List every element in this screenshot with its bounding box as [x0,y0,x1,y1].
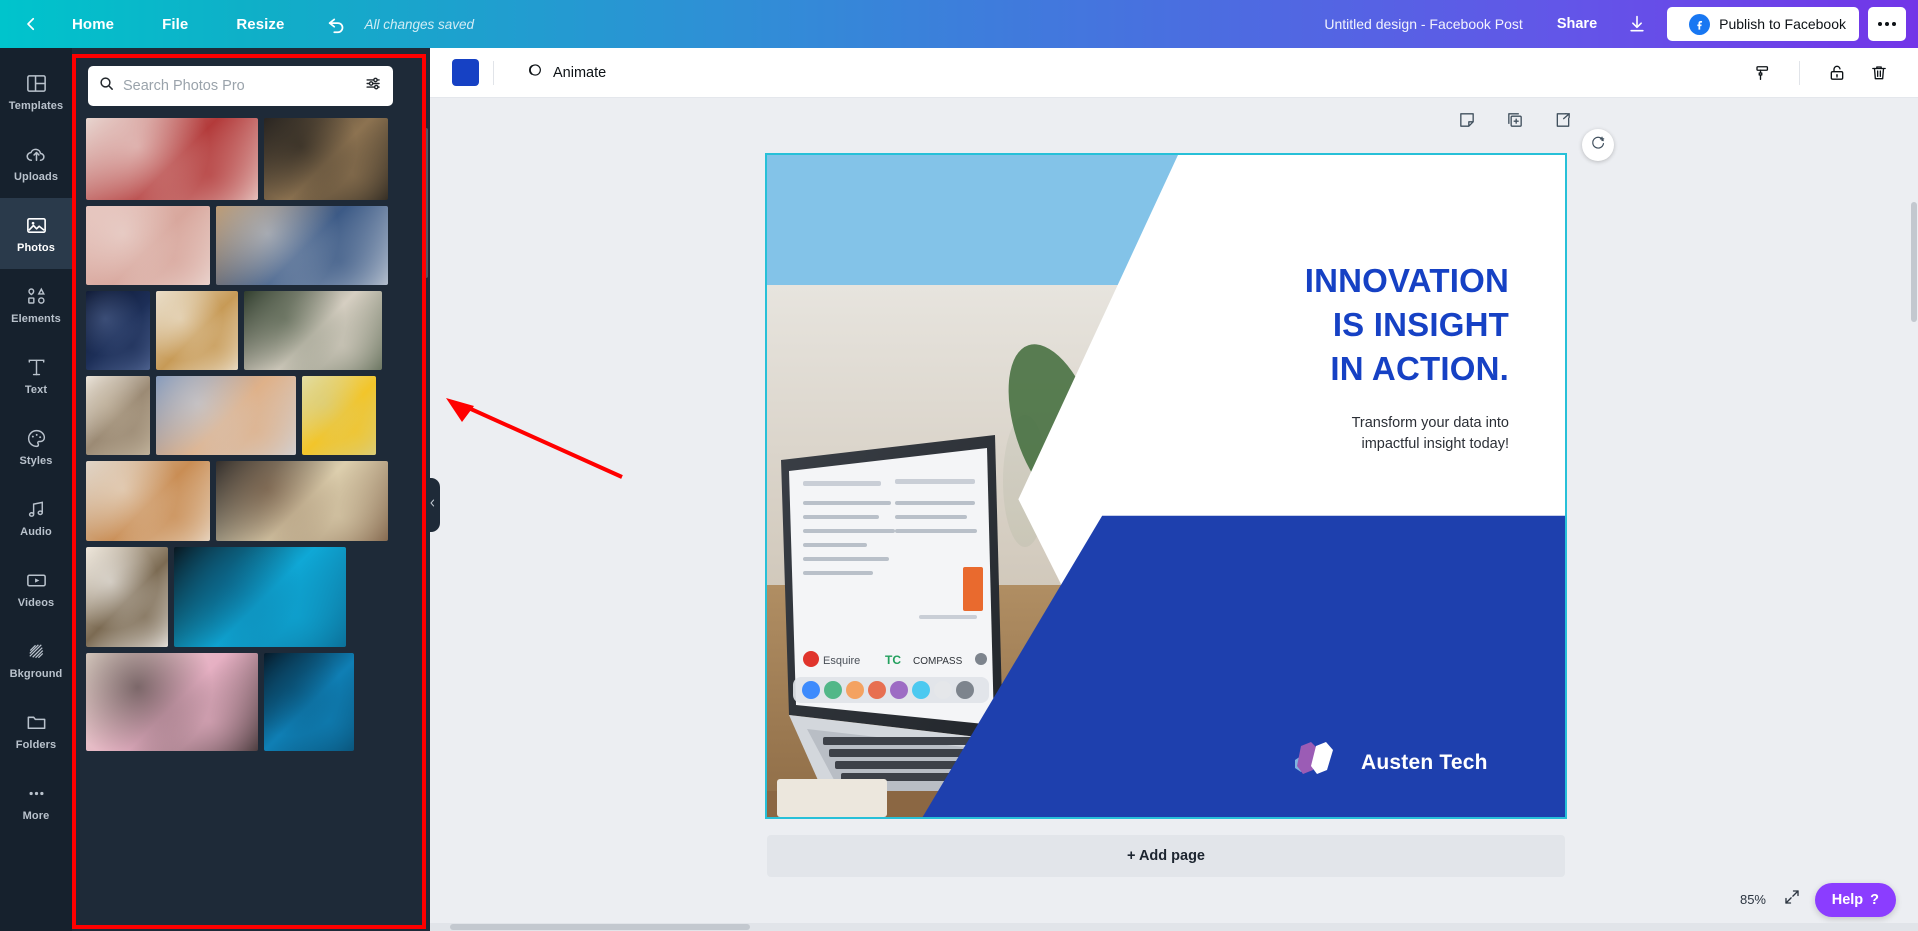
canvas-area[interactable]: Esquire TC COMPASS [430,98,1918,931]
photo-thumbnail [216,461,388,541]
photo-thumbnail [302,376,376,455]
facebook-icon [1689,14,1710,35]
color-swatch-button[interactable] [452,59,479,86]
heading-line-2: IS INSIGHT [1147,303,1509,347]
photo-thumbnail [264,653,354,751]
templates-icon [25,72,48,95]
photo-shepherd-sheep[interactable] [86,376,150,455]
sidebar-label: Audio [20,526,52,538]
animate-button[interactable]: Animate [508,55,614,90]
photo-thumbnail [86,461,210,541]
sidebar-label: Folders [16,739,56,751]
uploads-cloud-icon [25,143,48,166]
sidebar-item-audio[interactable]: Audio [0,482,72,553]
photo-thumbnail [86,118,258,200]
sidebar-label: Templates [9,100,64,112]
photo-thumbnail [174,547,346,647]
sidebar-label: More [23,810,50,822]
more-horizontal-icon [1878,22,1896,26]
home-button[interactable]: Home [62,10,124,39]
sidebar-label: Videos [18,597,54,609]
publish-label: Publish to Facebook [1719,16,1846,32]
photo-woman-reading-tablet[interactable] [216,206,388,285]
canvas-vertical-scrollbar[interactable] [1911,202,1917,322]
chevron-left-icon [428,496,437,515]
rotate-handle[interactable] [1582,129,1614,161]
search-bar[interactable] [88,66,393,106]
svg-text:Esquire: Esquire [823,655,860,667]
design-subtext[interactable]: Transform your data into impactful insig… [1147,413,1537,455]
photo-cherry-blossom-legs[interactable] [86,653,258,751]
file-menu[interactable]: File [152,10,198,39]
left-sidebar-rail: Templates Uploads Photos Elements Text [0,48,72,931]
sidebar-item-photos[interactable]: Photos [0,198,72,269]
question-mark-icon: ? [1870,892,1879,908]
share-button[interactable]: Share [1541,9,1613,39]
photo-person-sweater-door[interactable] [264,118,388,200]
photo-blue-waves-texture[interactable] [264,653,354,751]
panel-scrollbar[interactable] [424,128,428,278]
photo-night-sky-stars[interactable] [86,291,150,370]
photo-blue-paint-swirl[interactable] [174,547,346,647]
sidebar-label: Photos [17,242,55,254]
floating-page-tools [1457,110,1573,135]
brand-logo-group[interactable]: Austen Tech [1283,738,1488,787]
photo-cactus-pink-still-life[interactable] [86,206,210,285]
toolbar-divider [493,61,494,85]
photo-baking-dough-eggs[interactable] [216,461,388,541]
more-options-button[interactable] [1868,7,1906,41]
save-status: All changes saved [364,17,474,32]
panel-collapse-button[interactable] [424,478,440,532]
design-heading[interactable]: INNOVATION IS INSIGHT IN ACTION. [1147,259,1537,391]
animate-label: Animate [553,65,606,81]
sidebar-item-styles[interactable]: Styles [0,411,72,482]
share-export-icon[interactable] [1553,110,1573,135]
help-button[interactable]: Help ? [1815,883,1896,917]
elements-shapes-icon [25,285,48,308]
austen-tech-logo-icon [1283,738,1341,787]
canvas-horizontal-scrollbar[interactable] [430,923,1918,931]
videos-play-icon [25,569,48,592]
canva-editor-app: Home File Resize All changes saved Untit… [0,0,1918,931]
comment-icon[interactable] [1457,110,1477,135]
heading-line-1: INNOVATION [1147,259,1509,303]
heading-line-3: IN ACTION. [1147,347,1509,391]
photo-grid-row [86,118,416,200]
photo-grid-row [86,547,416,647]
photo-yellow-flowers[interactable] [302,376,376,455]
photos-panel [72,48,430,931]
photo-grid-row [86,206,416,285]
photo-results-grid[interactable] [72,118,430,931]
add-page-button[interactable]: + Add page [767,835,1565,877]
photo-grid-row [86,653,416,751]
animate-icon [525,61,544,84]
brand-name: Austen Tech [1361,751,1488,775]
top-bar: Home File Resize All changes saved Untit… [0,0,1918,48]
photos-image-icon [25,214,48,237]
photo-thumbnail [86,547,168,647]
photo-dog-curtain[interactable] [86,547,168,647]
sidebar-label: Elements [11,313,61,325]
trash-icon[interactable] [1860,54,1898,92]
sidebar-item-uploads[interactable]: Uploads [0,127,72,198]
position-icon[interactable] [1743,54,1781,92]
sidebar-label: Text [25,384,47,396]
filter-sliders-icon[interactable] [364,74,383,98]
photo-thumbnail [86,206,210,285]
photo-thumbnail [86,376,150,455]
top-bar-right: Untitled design - Facebook Post Share Pu… [1324,7,1918,41]
photo-grid-row [86,291,416,370]
search-input[interactable] [123,78,364,94]
photo-thumbnail [264,118,388,200]
sidebar-item-folders[interactable]: Folders [0,695,72,766]
canvas-toolbar: Animate [430,48,1918,98]
canvas-toolbar-right [1743,54,1918,92]
photo-thumbnail [86,653,258,751]
rotate-icon [1590,134,1607,156]
subtext-line-1: Transform your data into [1147,413,1509,434]
svg-text:TC: TC [885,653,901,667]
folder-icon [25,711,48,734]
zoom-level-label[interactable]: 85% [1740,892,1766,907]
publish-to-facebook-button[interactable]: Publish to Facebook [1667,7,1859,41]
photo-snow-mountain-dusk[interactable] [156,376,296,455]
photo-thumbnail [216,206,388,285]
back-button[interactable] [14,15,48,33]
photo-grid-row [86,461,416,541]
sidebar-item-elements[interactable]: Elements [0,269,72,340]
help-label: Help [1832,892,1863,908]
design-artboard[interactable]: Esquire TC COMPASS [767,155,1565,817]
expand-fullscreen-button[interactable] [1778,883,1806,911]
design-title[interactable]: Untitled design - Facebook Post [1324,16,1522,32]
svg-text:COMPASS: COMPASS [913,656,963,667]
photo-grid-row [86,376,416,455]
photo-thumbnail [244,291,382,370]
resize-button[interactable]: Resize [226,10,294,39]
text-t-icon [25,356,48,379]
sidebar-label: Bkground [10,668,63,680]
photo-thumbnail [156,291,238,370]
sidebar-item-bkground[interactable]: Bkground [0,624,72,695]
sidebar-label: Uploads [14,171,58,183]
photo-canyon-rocks[interactable] [86,461,210,541]
photo-thumbnail [156,376,296,455]
audio-note-icon [25,498,48,521]
undo-button[interactable] [326,13,348,35]
sidebar-item-videos[interactable]: Videos [0,553,72,624]
photo-thumbnail [86,291,150,370]
search-icon [98,75,115,97]
download-button[interactable] [1617,7,1657,41]
photo-coffee-cup-window[interactable] [244,291,382,370]
sidebar-item-more[interactable]: More [0,766,72,837]
toolbar-divider-2 [1799,61,1800,85]
duplicate-icon[interactable] [1505,110,1525,135]
sidebar-item-text[interactable]: Text [0,340,72,411]
subtext-line-2: impactful insight today! [1147,434,1509,455]
background-hatch-icon [25,640,48,663]
photo-women-bathroom-red[interactable] [86,118,258,200]
sidebar-item-templates[interactable]: Templates [0,56,72,127]
lock-icon[interactable] [1818,54,1856,92]
more-dots-icon [25,782,48,805]
photo-girl-wheat-field[interactable] [156,291,238,370]
sidebar-label: Styles [19,455,52,467]
styles-palette-icon [25,427,48,450]
